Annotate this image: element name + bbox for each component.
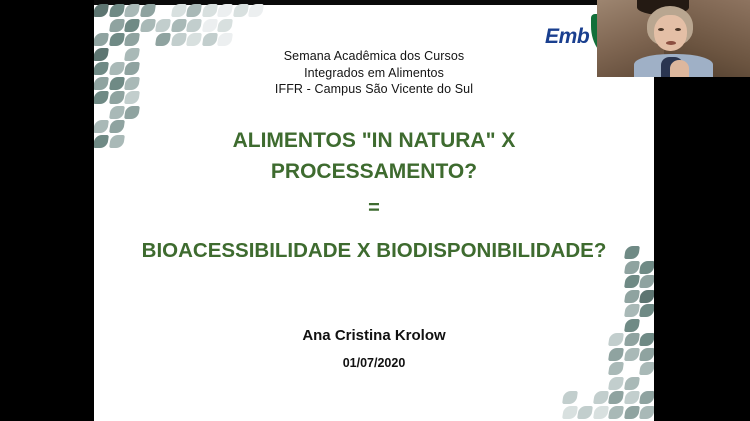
mosaic-tile (608, 406, 624, 419)
mosaic-tile (186, 19, 202, 32)
webcam-person-eye-right (675, 28, 681, 31)
mosaic-tile (608, 377, 624, 390)
mosaic-tile (155, 19, 171, 32)
mosaic-tile (624, 290, 640, 303)
mosaic-tile (155, 33, 171, 46)
mosaic-tile (109, 4, 125, 17)
mosaic-tile (624, 406, 640, 419)
mosaic-tile (639, 304, 654, 317)
mosaic-tile (109, 19, 125, 32)
slide-title-main: ALIMENTOS "IN NATURA" X PROCESSAMENTO? (94, 125, 654, 187)
mosaic-tile (624, 377, 640, 390)
mosaic-tile (624, 391, 640, 404)
slide-title-sub: BIOACESSIBILIDADE X BIODISPONIBILIDADE? (94, 238, 654, 264)
webcam-person-mouth (666, 41, 676, 45)
mosaic-tile (94, 4, 109, 17)
mosaic-tile (171, 33, 187, 46)
event-header-line-3: IFFR - Campus São Vicente do Sul (94, 81, 654, 98)
mosaic-tile (171, 4, 187, 17)
mosaic-tile (639, 275, 654, 288)
mosaic-tile (608, 391, 624, 404)
mosaic-tile (593, 406, 609, 419)
mosaic-tile (202, 33, 218, 46)
equals-sign: = (94, 196, 654, 220)
mosaic-tile (124, 4, 140, 17)
mosaic-tile (217, 4, 233, 17)
presentation-date: 01/07/2020 (94, 356, 654, 370)
mosaic-tile (624, 275, 640, 288)
mosaic-tile (248, 4, 264, 17)
video-call-screen: Semana Acadêmica dos Cursos Integrados e… (0, 0, 750, 421)
mosaic-tile (140, 4, 156, 17)
mosaic-tile (217, 19, 233, 32)
mosaic-tile (94, 33, 109, 46)
webcam-person-eye-left (658, 28, 664, 31)
slide-title-main-line-2: PROCESSAMENTO? (94, 156, 654, 187)
mosaic-tile (186, 4, 202, 17)
shared-slide: Semana Acadêmica dos Cursos Integrados e… (94, 0, 654, 421)
webcam-person-hand (670, 60, 688, 77)
slide-title-main-line-1: ALIMENTOS "IN NATURA" X (94, 125, 654, 156)
mosaic-tile (562, 406, 578, 419)
embrapa-wordmark: Emb (545, 25, 650, 49)
mosaic-tile (171, 19, 187, 32)
mosaic-tile (562, 391, 578, 404)
webcam-person-face (654, 15, 686, 50)
mosaic-tile (202, 4, 218, 17)
mosaic-tile (124, 106, 140, 119)
mosaic-tile (186, 33, 202, 46)
mosaic-tile (202, 19, 218, 32)
slide-letterbox-strip (94, 0, 654, 5)
mosaic-tile (624, 304, 640, 317)
mosaic-tile (577, 406, 593, 419)
mosaic-tile (639, 391, 654, 404)
mosaic-tile (124, 19, 140, 32)
mosaic-tile (217, 33, 233, 46)
presenter-name: Ana Cristina Krolow (94, 327, 654, 344)
mosaic-tile (124, 33, 140, 46)
mosaic-tile (140, 19, 156, 32)
mosaic-tile (593, 391, 609, 404)
mosaic-tile (639, 406, 654, 419)
mosaic-tile (233, 4, 249, 17)
mosaic-tile (109, 33, 125, 46)
event-header-line-2: Integrados em Alimentos (94, 65, 654, 82)
mosaic-tile (639, 290, 654, 303)
mosaic-tile (109, 106, 125, 119)
